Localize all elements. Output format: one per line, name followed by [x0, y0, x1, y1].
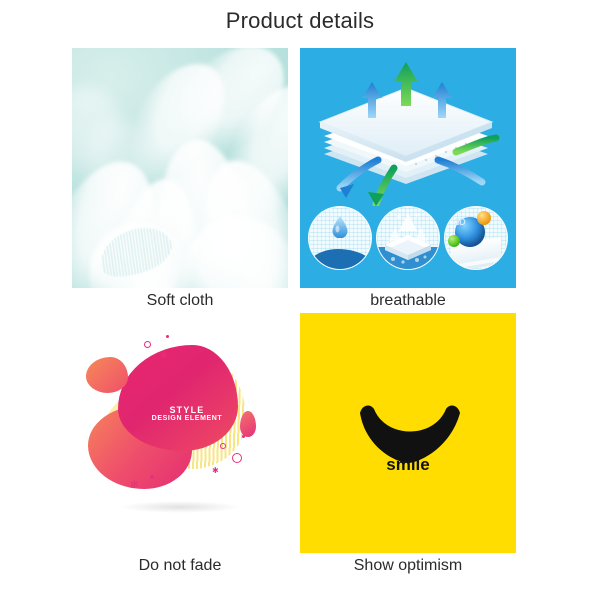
badge-moisture-wicking[interactable]: [376, 206, 440, 270]
globe-label: 3D: [445, 207, 475, 237]
small-orange-blob-icon: [86, 357, 128, 393]
tile-caption-soft-cloth: Soft cloth: [72, 288, 288, 314]
blob-overlay-text: STYLE DESIGN ELEMENT: [150, 405, 224, 423]
do-not-fade-image[interactable]: STYLE DESIGN ELEMENT ✻ ✻ ✱: [72, 313, 288, 553]
blob-text-line1: STYLE: [150, 405, 224, 415]
product-feature-grid: Soft cloth: [72, 48, 528, 588]
drop-shadow: [120, 501, 240, 513]
abstract-blob-composition: STYLE DESIGN ELEMENT ✻ ✻ ✱: [72, 319, 288, 519]
deco-star-icon: ✱: [212, 467, 219, 475]
deco-ring-icon: [232, 453, 242, 463]
water-drop-icon: [332, 216, 349, 238]
fabric-layers-diagram: [306, 56, 510, 206]
layered-fabric-icon: [377, 207, 439, 269]
smile-graphic: [300, 313, 516, 553]
feature-tile-show-optimism[interactable]: smile Show optimism: [300, 313, 528, 578]
badge-antibacterial[interactable]: 3D: [444, 206, 508, 270]
smile-label: smile: [300, 455, 516, 475]
breathable-image[interactable]: 3D: [300, 48, 516, 288]
feature-badges: 3D: [304, 196, 512, 282]
deco-star-icon: ✻: [160, 351, 168, 360]
tile-caption-show-optimism: Show optimism: [300, 553, 516, 579]
show-optimism-image[interactable]: smile: [300, 313, 516, 553]
soft-cloth-image[interactable]: [72, 48, 288, 288]
smile-curve-icon: [300, 313, 516, 553]
fabric-layers-svg: [306, 56, 510, 206]
magenta-blob-icon: [118, 345, 238, 451]
badge-water-repellent[interactable]: [308, 206, 372, 270]
green-sphere-icon: [448, 235, 460, 247]
deco-star-icon: ✻: [130, 481, 138, 491]
feature-tile-do-not-fade[interactable]: STYLE DESIGN ELEMENT ✻ ✻ ✱ Do not fade: [72, 313, 300, 578]
product-details-page: Product details Soft cloth: [0, 0, 600, 600]
deco-dot-icon: [166, 335, 169, 338]
deco-ring-icon: [144, 341, 151, 348]
feature-tile-breathable[interactable]: 3D breathable: [300, 48, 528, 313]
orange-sphere-icon: [477, 211, 491, 225]
blob-text-line2: DESIGN ELEMENT: [150, 415, 224, 423]
feature-tile-soft-cloth[interactable]: Soft cloth: [72, 48, 300, 313]
deco-dot-icon: [150, 475, 154, 479]
deco-dot-icon: [242, 435, 245, 438]
pink-pill-blob-icon: [240, 411, 256, 437]
page-title: Product details: [0, 8, 600, 34]
tile-caption-do-not-fade: Do not fade: [72, 553, 288, 579]
deco-ring-icon: [220, 443, 226, 449]
tile-caption-breathable: breathable: [300, 288, 516, 314]
